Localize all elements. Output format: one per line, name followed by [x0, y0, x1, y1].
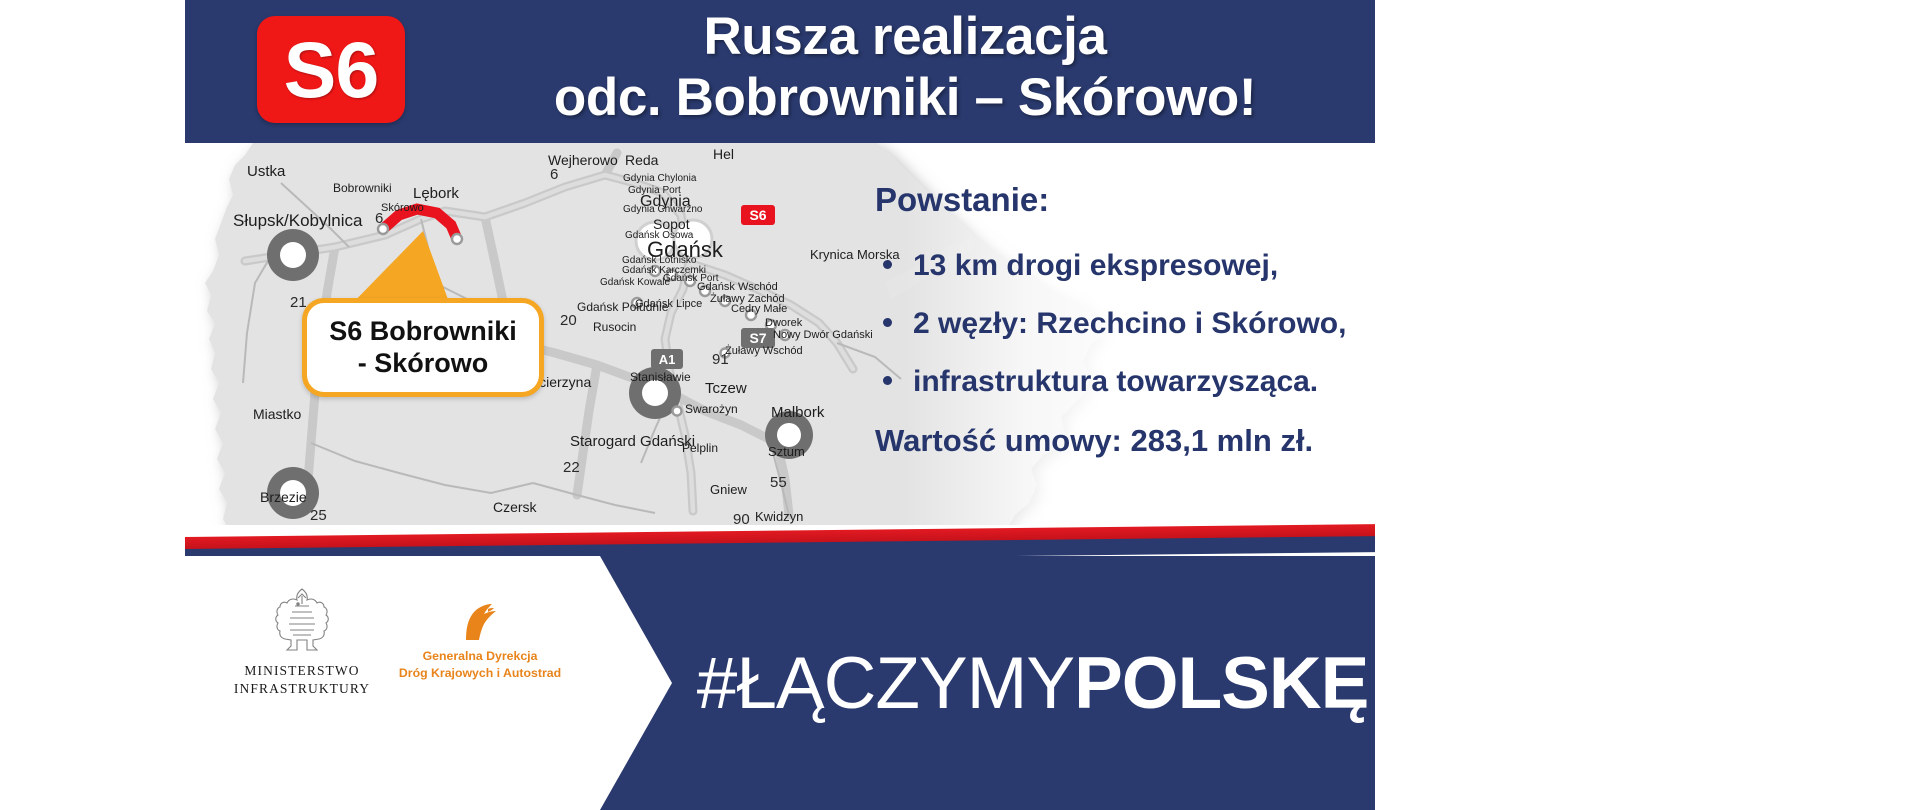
- map-label: Hel: [713, 146, 734, 162]
- map-label: Czersk: [493, 499, 538, 515]
- map-label: Tczew: [705, 380, 747, 397]
- right-margin: [1375, 0, 1920, 810]
- svg-text:S6: S6: [749, 207, 766, 223]
- bullet-text: 13 km drogi ekspresowej,: [913, 249, 1278, 282]
- page-title: Rusza realizacja odc. Bobrowniki – Skóro…: [445, 6, 1365, 129]
- map-label: Kwidzyn: [755, 509, 803, 524]
- map-label: Stanisławie: [630, 370, 691, 384]
- content-area: S6 S7 A1 UstkaSłupsk/KobylnicaBobrowniki…: [185, 143, 1375, 533]
- polish-eagle-icon: [269, 584, 335, 656]
- gddkia-line-1: Generalna Dyrekcja: [390, 648, 570, 665]
- bullet-dot-icon: [883, 260, 892, 269]
- infographic-banner: S6 Rusza realizacja odc. Bobrowniki – Sk…: [0, 0, 1920, 810]
- map-label: Dworek: [765, 317, 803, 329]
- title-line-1: Rusza realizacja: [445, 6, 1365, 67]
- map-label: Swarożyn: [685, 402, 738, 416]
- map-label: Gdynia Chwarzno: [623, 204, 703, 215]
- road-shield-s6: S6: [257, 16, 405, 123]
- gddkia-logo-text: Generalna Dyrekcja Dróg Krajowych i Auto…: [390, 648, 570, 681]
- ministry-logo: MINISTERSTWO INFRASTRUKTURY: [227, 584, 377, 698]
- gddkia-eagle-icon: [458, 602, 502, 642]
- svg-text:A1: A1: [659, 352, 676, 367]
- callout-box: S6 Bobrowniki - Skórowo: [302, 298, 544, 397]
- bullet-dot-icon: [883, 376, 892, 385]
- map-label: Malbork: [771, 404, 825, 421]
- map-label: Żuławy Wschód: [725, 344, 803, 357]
- left-margin: [0, 0, 185, 810]
- map-road-number: 55: [770, 474, 787, 491]
- callout-line-1: S6 Bobrowniki: [329, 316, 517, 347]
- list-item: infrastruktura towarzysząca.: [875, 365, 1375, 398]
- campaign-hashtag: #ŁĄCZYMYPOLSKĘ: [690, 556, 1375, 810]
- info-panel: Powstanie: 13 km drogi ekspresowej, 2 wę…: [875, 181, 1375, 459]
- map-label: Miastko: [253, 406, 301, 422]
- map-label: Pelplin: [682, 441, 718, 455]
- map-label: Gniew: [710, 482, 747, 497]
- bullet-dot-icon: [883, 318, 892, 327]
- info-heading: Powstanie:: [875, 181, 1375, 219]
- info-bullet-list: 13 km drogi ekspresowej, 2 węzły: Rzechc…: [875, 249, 1375, 398]
- footer-arrow-shape: [600, 556, 672, 810]
- map-label: Gdynia Chylonia: [623, 173, 697, 184]
- map-label: Reda: [625, 152, 659, 168]
- map-label: Gdańsk Kowale: [600, 277, 670, 288]
- header-bar: S6 Rusza realizacja odc. Bobrowniki – Sk…: [185, 0, 1375, 143]
- hashtag-light-part: #ŁĄCZYMY: [697, 642, 1074, 725]
- title-line-2: odc. Bobrowniki – Skórowo!: [445, 67, 1365, 128]
- map-label: Brzezie: [260, 489, 307, 505]
- map-road-number: 22: [563, 459, 580, 476]
- list-item: 2 węzły: Rzechcino i Skórowo,: [875, 307, 1375, 340]
- map-label: Gdańsk Wschód: [697, 281, 778, 293]
- contract-value: Wartość umowy: 283,1 mln zł.: [875, 423, 1375, 459]
- ministry-line-2: INFRASTRUKTURY: [234, 680, 370, 698]
- footer-bar: MINISTERSTWO INFRASTRUKTURY Generalna Dy…: [185, 556, 1375, 810]
- bullet-text: infrastruktura towarzysząca.: [913, 365, 1318, 398]
- map-label: Sztum: [768, 444, 805, 459]
- gddkia-line-2: Dróg Krajowych i Autostrad: [390, 665, 570, 682]
- list-item: 13 km drogi ekspresowej,: [875, 249, 1375, 282]
- map-label: Nowy Dwór Gdański: [773, 329, 873, 341]
- map-label: Starogard Gdański: [570, 433, 695, 450]
- gddkia-logo: Generalna Dyrekcja Dróg Krajowych i Auto…: [390, 602, 570, 681]
- ministry-logo-text: MINISTERSTWO INFRASTRUKTURY: [234, 662, 370, 698]
- callout-line-2: - Skórowo: [358, 348, 489, 379]
- map-road-number: 25: [310, 507, 327, 524]
- road-shield-label: S6: [284, 30, 379, 109]
- svg-text:S7: S7: [749, 330, 766, 346]
- bullet-text: 2 węzły: Rzechcino i Skórowo,: [913, 307, 1346, 340]
- map-label: Cedry Małe: [731, 303, 787, 315]
- ministry-line-1: MINISTERSTWO: [234, 662, 370, 680]
- hashtag-bold-part: POLSKĘ: [1074, 642, 1368, 725]
- map-road-number: 91: [712, 351, 729, 368]
